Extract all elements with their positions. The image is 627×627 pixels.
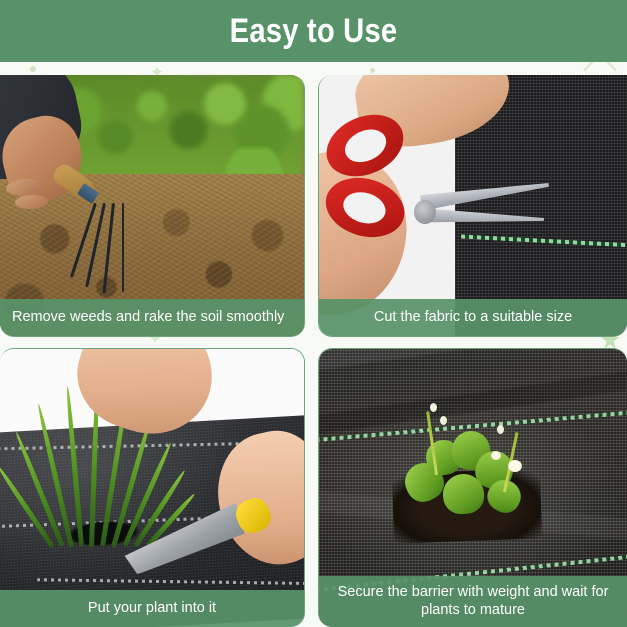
strawberry-flower (491, 451, 501, 460)
flower-bud (430, 403, 437, 412)
decor-dot (30, 66, 36, 72)
decor-dot (370, 68, 375, 73)
rake-tine (122, 203, 125, 292)
scissor-pivot (414, 200, 436, 223)
strawberry-flower (508, 460, 522, 472)
planting-scene (0, 349, 304, 627)
panel-secure-barrier[interactable]: Secure the barrier with weight and wait … (318, 348, 627, 627)
header-bar: Easy to Use (0, 0, 627, 62)
panel-cut-fabric[interactable]: Cut the fabric to a suitable size (318, 75, 627, 337)
caption-put-plant: Put your plant into it (0, 590, 304, 627)
photo-put-plant (0, 349, 304, 627)
panel-grid: Remove weeds and rake the soil smoothly (0, 75, 627, 627)
cut-scene (319, 75, 627, 336)
page-title: Easy to Use (230, 12, 398, 51)
panel-remove-weeds[interactable]: Remove weeds and rake the soil smoothly (0, 75, 305, 337)
panel-put-plant[interactable]: Put your plant into it (0, 348, 305, 627)
poster-root: ✦ ✦ Easy to Use (0, 0, 627, 627)
caption-cut-fabric: Cut the fabric to a suitable size (319, 299, 627, 336)
flower-bud (497, 425, 504, 434)
caption-secure-barrier: Secure the barrier with weight and wait … (319, 576, 627, 627)
flower-bud (440, 416, 447, 425)
soil-scene (0, 75, 304, 336)
caption-remove-weeds: Remove weeds and rake the soil smoothly (0, 299, 304, 336)
photo-remove-weeds (0, 75, 304, 336)
strawberry-plant (399, 399, 547, 544)
photo-cut-fabric (319, 75, 627, 336)
